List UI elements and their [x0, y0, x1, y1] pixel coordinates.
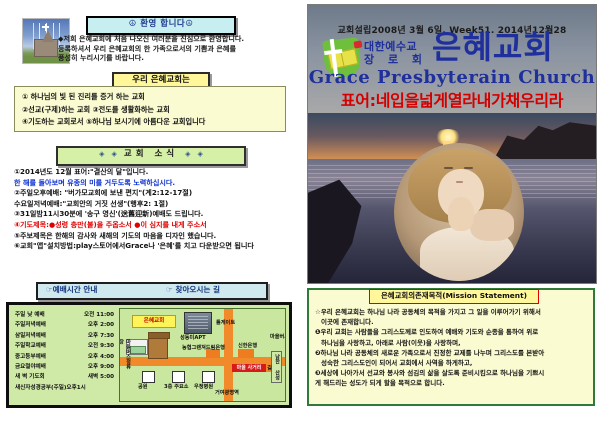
- mission-line: 성숙한 그리스도인이 되어서 교회에서 사역을 하게하고,: [315, 358, 593, 368]
- news-item: ④기도제목:●성령 충만(불)을 주옵소서 ●이 심지를 내게 주소서: [14, 220, 300, 231]
- map-landmark-label: 우정병원: [194, 383, 213, 390]
- girl-mouth: [456, 181, 463, 183]
- denomination-line-2: 장 로 회: [364, 51, 427, 67]
- worship-schedule-table: 주일 낮 예배 오전 11:00 주일저녁예배 오후 2:00 삼일저녁예배 오…: [12, 308, 116, 404]
- map-landmark-label: 공원: [138, 383, 148, 390]
- map-landmark-box: [202, 371, 215, 383]
- praying-girl-portrait: [394, 143, 524, 281]
- map-apt-label: 성동미APT: [180, 334, 206, 341]
- schedule-service-name: 금요철야예배: [15, 362, 46, 372]
- schedule-service-time: 오후 7:30: [88, 331, 114, 341]
- schedule-service-name: 새 벽 기도회: [15, 372, 45, 382]
- diamond-icon: ◈: [185, 150, 190, 158]
- church-news-list: ①2014년도 12월 표어:"결산의 달"입니다. 한 해를 돌아보며 유종의…: [14, 167, 300, 252]
- map-church-label: 은혜교회: [132, 315, 176, 328]
- news-item: ②주일오후예배: "버가모교회에 보낸 편지"(계2:12-17절): [14, 188, 300, 199]
- schedule-service-name: 주일학교예배: [15, 341, 46, 351]
- mission-line: ❸세상에 나아가서 선교와 봉사와 섬김의 삶을 살도록 준비시킴으로 하나님을…: [315, 368, 593, 378]
- schedule-service-time: 오전 9:30: [88, 341, 114, 351]
- news-item: ⑤주보제목은 한해의 감사와 새해의 기도의 마음을 디자인 했습니다.: [14, 231, 300, 242]
- identity-point: ④기도하는 교회로서 ⑤하나님 보시기에 아름다운 교회입니다: [22, 116, 278, 129]
- schedule-row: 금요철야예배 오후 9:00: [15, 362, 114, 372]
- church-spire-shape: [42, 30, 54, 42]
- tab-directions[interactable]: ☞ 찾아오시는 길: [166, 284, 220, 295]
- diamond-icon: ◈: [197, 150, 202, 158]
- tab-worship-times[interactable]: ☞예배시간 안내: [46, 284, 97, 295]
- map-bus-label: 마을버스: [270, 333, 286, 340]
- welcome-line: 등록하셔서 우리 은혜교회의 한 가족으로서의 기쁨과 은혜를: [58, 44, 304, 54]
- right-column: 교회설립2008년 3월 6일. Week51. 2014년12월28 대한예수…: [302, 0, 600, 424]
- map-bank-label-2: 신한은행: [238, 342, 257, 349]
- church-news-title: 교회 소식: [124, 149, 178, 159]
- mission-statement-body: ☆우리 은혜교회는 하나님 나라 공동체의 목적을 가지고 그 일을 이루어가기…: [315, 307, 593, 389]
- masthead-photo: [308, 113, 596, 283]
- directions-map[interactable]: 은혜교회 성동미APT 톨게이트 마을버스 농협그랜져드림은행 신한은행 거여광…: [119, 308, 286, 402]
- mission-statement-box: 은혜교회의존재목적(Mission Statement) ☆우리 은혜교회는 하…: [307, 288, 595, 406]
- schedule-row: 새신자성경공부(주일)오후1시: [15, 383, 114, 393]
- schedule-service-time: 오후 4:00: [88, 352, 114, 362]
- schedule-row: 중고등부예배 오후 4:00: [15, 352, 114, 362]
- identity-point: ②선교(구제)하는 교회 ③전도를 생활화하는 교회: [22, 104, 278, 117]
- welcome-line: 풍성히 누리시기를 바랍니다.: [58, 53, 304, 63]
- map-intersection-marker: 마을 사거리: [232, 364, 266, 372]
- news-item: 한 해를 돌아보며 유종의 미를 거두도록 노력하십시다.: [14, 178, 300, 189]
- schedule-row: 삼일저녁예배 오후 7:30: [15, 331, 114, 341]
- road-junction-marker: [238, 349, 254, 358]
- heart-icon: [353, 40, 362, 48]
- schedule-service-name: 주일저녁예배: [15, 320, 46, 330]
- masthead: 교회설립2008년 3월 6일. Week51. 2014년12월28 대한예수…: [307, 4, 597, 284]
- bulletin-page: ☮ 환영 합니다☮ ◆저희 은혜교회에 처음 나오신 여러분을 진심으로 환영합…: [0, 0, 600, 424]
- schedule-row: 주일학교예배 오전 9:30: [15, 341, 114, 351]
- schedule-row: 새 벽 기도회 새벽 5:00: [15, 372, 114, 382]
- schedule-service-name: 새신자성경공부(주일)오후1시: [15, 385, 86, 391]
- church-identity-points: ① 하나님의 빛 된 진리를 증거 하는 교회 ②선교(구제)하는 교회 ③전도…: [14, 86, 286, 132]
- schedule-service-name: 삼일저녁예배: [15, 331, 46, 341]
- schedule-row: 주일 낮 예배 오전 11:00: [15, 310, 114, 320]
- mission-line: 게 해드리는 성도가 되게 할을 목적으로 합니다.: [315, 378, 593, 388]
- schedule-row: 주일저녁예배 오후 2:00: [15, 320, 114, 330]
- diamond-icon: ◈: [99, 150, 104, 158]
- girl-shoulder: [470, 209, 514, 241]
- welcome-text: ◆저희 은혜교회에 처음 나오신 여러분을 진심으로 환영합니다. 등록하셔서 …: [58, 34, 304, 63]
- map-tollgate-label: 톨게이트: [216, 319, 235, 326]
- girl-praying-hands: [448, 197, 474, 231]
- news-item: 수요일저녁예배:"교회안의 거짓 선생"(행후2: 1절): [14, 199, 300, 210]
- identity-point: ① 하나님의 빛 된 진리를 증거 하는 교회: [22, 91, 278, 104]
- schedule-service-time: 오후 9:00: [88, 362, 114, 372]
- schedule-service-time: 오후 2:00: [88, 320, 114, 330]
- mission-line: ☆우리 은혜교회는 하나님 나라 공동체의 목적을 가지고 그 일을 이루어가기…: [315, 307, 593, 317]
- schedule-service-time: 오전 11:00: [84, 310, 114, 320]
- mission-statement-title: 은혜교회의존재목적(Mission Statement): [369, 289, 539, 304]
- mission-line: ❷하나님 나라 공동체의 새로운 가족으로서 진정한 교제를 나누며 그리스도를…: [315, 348, 593, 358]
- map-station-label: 거여광명역: [215, 389, 239, 396]
- left-column: ☮ 환영 합니다☮ ◆저희 은혜교회에 처음 나오신 여러분을 진심으로 환영합…: [0, 0, 300, 424]
- girl-eye-left: [444, 167, 453, 169]
- map-church-building-icon: [148, 335, 168, 359]
- schedule-service-time: 새벽 5:00: [88, 372, 114, 382]
- welcome-banner: ☮ 환영 합니다☮: [86, 16, 236, 35]
- diamond-icon: ◈: [112, 150, 117, 158]
- info-tabs-bar: ☞예배시간 안내 ☞ 찾아오시는 길: [36, 282, 268, 300]
- map-building-detail: [130, 346, 146, 354]
- church-news-header: ◈ ◈ 교회 소식 ◈ ◈: [56, 146, 246, 166]
- map-landmark-box: [142, 371, 155, 383]
- apartment-building-photo: [184, 312, 212, 334]
- news-item: ⑥교회"앱"설치방법:play스토어에서Grace나 '은혜'를 치고 다운받으…: [14, 241, 300, 252]
- schedule-service-name: 주일 낮 예배: [15, 310, 45, 320]
- schedule-service-name: 중고등부예배: [15, 352, 46, 362]
- mission-line: 이곳에 존재합니다.: [315, 317, 593, 327]
- church-name-title: 은혜교회: [432, 31, 554, 63]
- map-landmark-box: [172, 371, 185, 383]
- church-name-english: Grace Presbyterain Church: [308, 67, 596, 88]
- map-landmark-label: 3층 주요소: [164, 383, 189, 390]
- map-vertical-label-left: 마을버스정류장: [124, 339, 131, 373]
- news-item: ③31일밤11시30분에 '송구 영신'(送舊迎新)예배도 드립니다.: [14, 209, 300, 220]
- year-motto: 표어:네입을넓게열라내가채우리라: [308, 87, 596, 111]
- mission-line: 하나님을 사랑하고, 아래로 사람(이웃)을 사랑하며,: [315, 338, 593, 348]
- welcome-line: ◆저희 은혜교회에 처음 나오신 여러분을 진심으로 환영합니다.: [58, 34, 304, 44]
- news-item: ①2014년도 12월 표어:"결산의 달"입니다.: [14, 167, 300, 178]
- masthead-title-area: 교회설립2008년 3월 6일. Week51. 2014년12월28 대한예수…: [308, 5, 596, 113]
- mission-line: ❶우리 교회는 사람들을 그리스도께로 인도하여 예배와 기도와 순종을 통하여…: [315, 327, 593, 337]
- bottom-info-panel: 주일 낮 예배 오전 11:00 주일저녁예배 오후 2:00 삼일저녁예배 오…: [6, 302, 292, 408]
- map-bank-label-1: 농협그랜져드림은행: [182, 344, 225, 351]
- cross-icon: [45, 24, 47, 31]
- girl-eye-right: [464, 167, 473, 169]
- map-vertical-label-right: 남한 산성길: [271, 351, 282, 383]
